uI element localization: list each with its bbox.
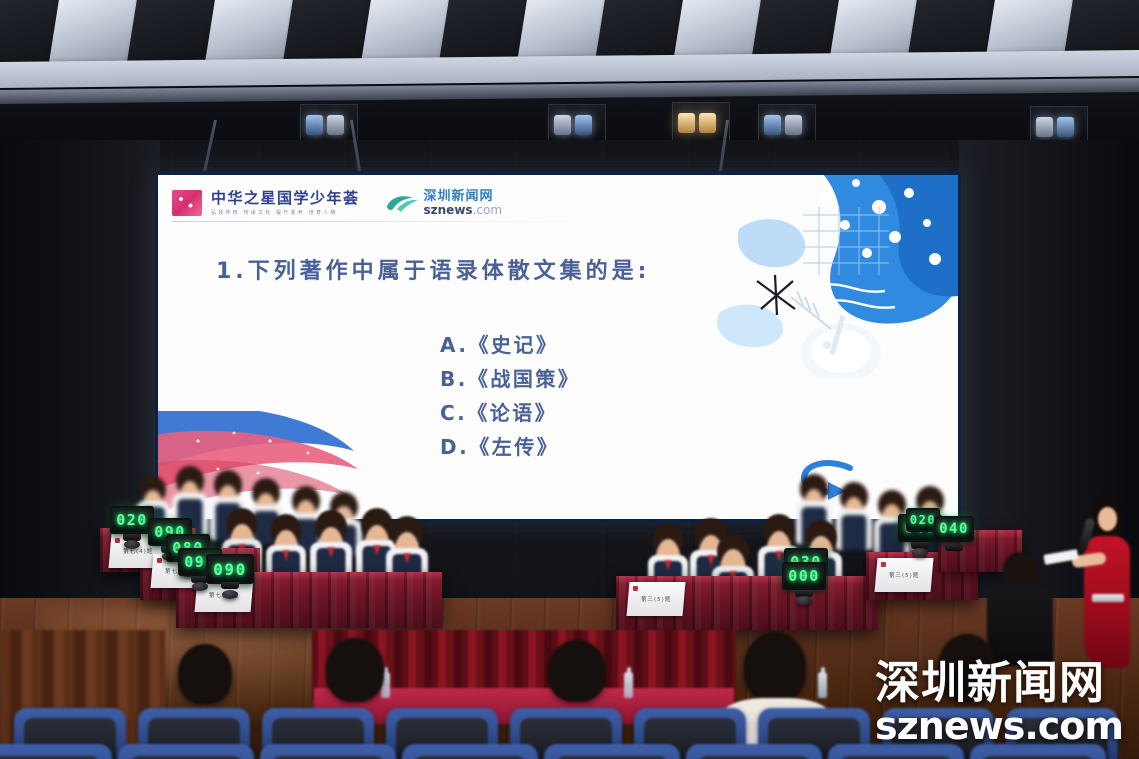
projection-screen-frame: 中华之星国学少年荟 弘扬传统 传承文化 提升素养 培育人格 深圳新闻网 szne…: [155, 171, 961, 523]
option-b: B.《战国策》: [440, 363, 580, 392]
brand-title: 中华之星国学少年荟: [211, 191, 360, 206]
watermark-en: sznews.com: [875, 707, 1123, 745]
table-nameplate: 第三(5)题: [627, 582, 686, 616]
audience-seat[interactable]: [544, 744, 680, 759]
led-value: 020: [910, 513, 936, 527]
wall-left-panel: [0, 140, 160, 660]
audience-seat[interactable]: [260, 744, 396, 759]
option-d: D.《左传》: [440, 431, 580, 460]
projection-screen: 中华之星国学少年荟 弘扬传统 传承文化 提升素养 培育人格 深圳新闻网 szne…: [158, 175, 958, 519]
audience-seat[interactable]: [0, 744, 112, 759]
auditorium-stage-photo: 中华之星国学少年荟 弘扬传统 传承文化 提升素养 培育人格 深圳新闻网 szne…: [0, 0, 1139, 759]
answer-options-list: A.《史记》 B.《战国策》 C.《论语》 D.《左传》: [440, 329, 580, 460]
sznews-en-label: sznews.com: [424, 204, 503, 216]
question-text: 1.下列著作中属于语录体散文集的是:: [216, 253, 650, 285]
buzzer-display-l5[interactable]: 090: [206, 554, 254, 584]
blue-cloud-graphic: [699, 175, 958, 378]
zhonghua-star-logo: [172, 190, 202, 216]
audience-head: [744, 632, 806, 702]
buzzer-display-r5[interactable]: 040: [934, 516, 974, 542]
crew-member: [985, 552, 1055, 662]
sznews-swirl-icon: [385, 193, 419, 213]
led-value: 090: [213, 560, 246, 579]
audience-head: [178, 644, 232, 704]
led-value: 020: [116, 511, 148, 529]
audience-seat[interactable]: [118, 744, 254, 759]
sznews-cn-label: 深圳新闻网: [424, 190, 503, 203]
table-nameplate: 第三(5)题: [875, 558, 934, 592]
led-value: 000: [788, 567, 820, 585]
audience-seat[interactable]: [686, 744, 822, 759]
sznews-logo: 深圳新闻网 sznews.com: [385, 190, 503, 216]
ceiling-truss-area: [0, 0, 1139, 148]
led-value: 040: [939, 521, 969, 537]
audience-head: [326, 638, 384, 702]
sznews-watermark: 深圳新闻网 sznews.com: [875, 660, 1123, 745]
option-a: A.《史记》: [440, 329, 580, 358]
slide-header: 中华之星国学少年荟 弘扬传统 传承文化 提升素养 培育人格 深圳新闻网 szne…: [172, 186, 502, 220]
watermark-cn: 深圳新闻网: [875, 660, 1123, 705]
brand-subtitle: 弘扬传统 传承文化 提升素养 培育人格: [211, 209, 360, 216]
buzzer-display-r2[interactable]: 000: [782, 562, 826, 590]
audience-seat[interactable]: [402, 744, 538, 759]
option-c: C.《论语》: [440, 397, 580, 426]
header-divider: [172, 221, 602, 222]
audience-head: [548, 640, 606, 702]
host-presenter: [1078, 496, 1136, 668]
satellite-dish-illustration: [757, 275, 881, 378]
